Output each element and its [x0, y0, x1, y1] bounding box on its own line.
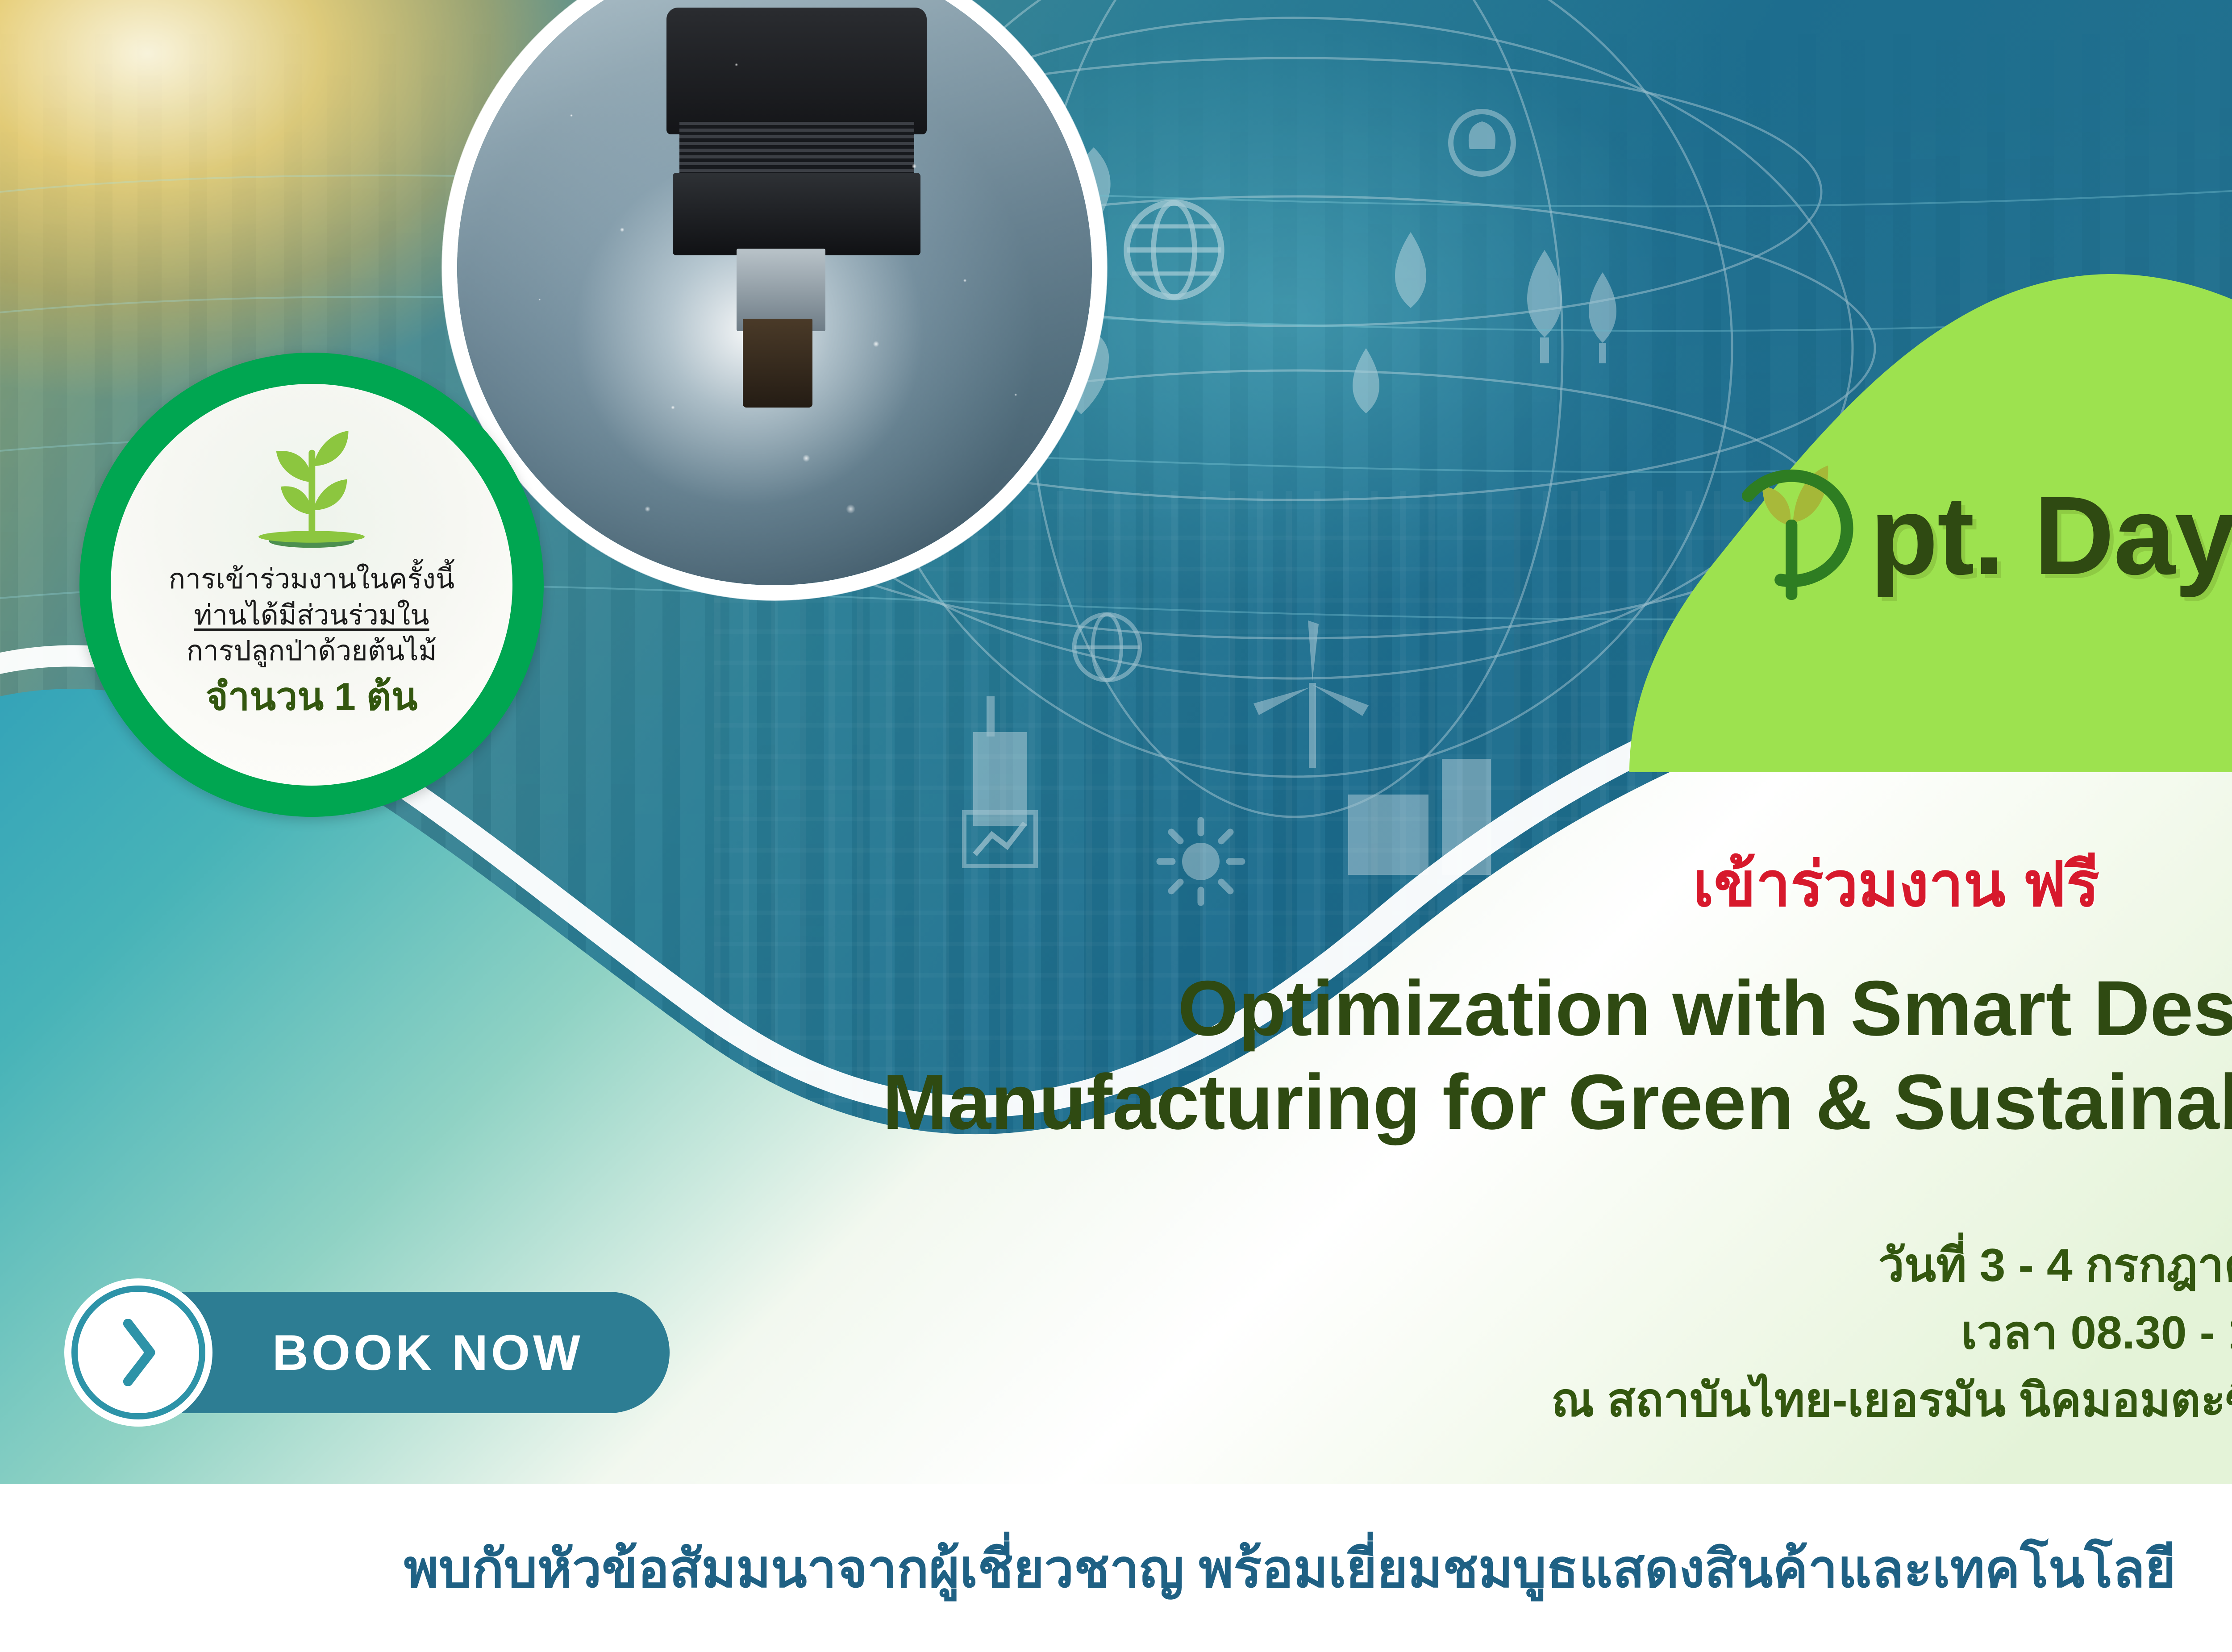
- event-promo-poster: การเข้าร่วมงานในครั้งนี้ ท่านได้มีส่วนร่…: [0, 0, 2232, 1652]
- badge-line-4: จำนวน 1 ต้น: [111, 672, 512, 722]
- chevron-right-icon: [114, 1319, 163, 1386]
- badge-line-1: การเข้าร่วมงานในครั้งนี้: [111, 562, 512, 598]
- coolant-spray: [457, 0, 1092, 585]
- badge-line-3: การปลูกป่าด้วยต้นไม้: [111, 633, 512, 670]
- title-line-2: Manufacturing for Green & Sustainability: [0, 1056, 2232, 1149]
- footer-text: พบกับหัวข้อสัมมนาจากผู้เชี่ยวชาญ พร้อมเย…: [404, 1526, 2176, 1610]
- badge-inner: การเข้าร่วมงานในครั้งนี้ ท่านได้มีส่วนร่…: [111, 384, 512, 786]
- sprout-icon: [238, 412, 385, 559]
- book-now-button[interactable]: BOOK NOW: [71, 1286, 670, 1419]
- footer-banner: พบกับหัวข้อสัมมนาจากผู้เชี่ยวชาญ พร้อมเย…: [0, 1484, 2232, 1652]
- opt-day-logo: pt. Day 2024: [1716, 455, 2232, 616]
- badge-line-2: ท่านได้มีส่วนร่วมใน: [111, 598, 512, 634]
- free-admission-text: เข้าร่วมงาน ฟรี: [1693, 835, 2099, 933]
- badge-text-block: การเข้าร่วมงานในครั้งนี้ ท่านได้มีส่วนร่…: [111, 562, 512, 722]
- logo-wordmark: pt. Day 2024: [1870, 480, 2232, 591]
- book-now-label: BOOK NOW: [272, 1324, 583, 1382]
- cnc-milling-photo: [442, 0, 1107, 600]
- tree-planting-badge: การเข้าร่วมงานในครั้งนี้ ท่านได้มีส่วนร่…: [79, 353, 544, 817]
- book-now-circle[interactable]: [71, 1286, 205, 1419]
- main-title: Optimization with Smart Design - Manufac…: [0, 962, 2232, 1149]
- title-line-1: Optimization with Smart Design -: [0, 962, 2232, 1056]
- power-sprout-icon: [1716, 455, 1864, 616]
